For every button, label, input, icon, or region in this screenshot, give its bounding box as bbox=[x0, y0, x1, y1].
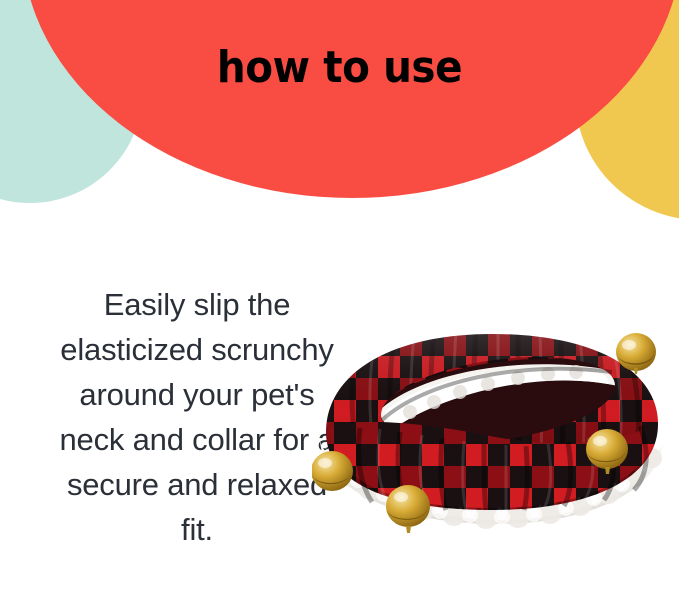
bell-icon bbox=[312, 451, 353, 491]
bell-icon bbox=[386, 485, 430, 533]
product-image bbox=[312, 312, 672, 538]
page-title: how to use bbox=[27, 42, 652, 94]
red-ellipse-shape bbox=[22, 0, 679, 198]
header-decorative-art bbox=[0, 0, 679, 230]
instruction-text: Easily slip the elasticized scrunchy aro… bbox=[52, 282, 342, 552]
how-to-use-panel: how to use Easily slip the elasticized s… bbox=[0, 0, 679, 589]
